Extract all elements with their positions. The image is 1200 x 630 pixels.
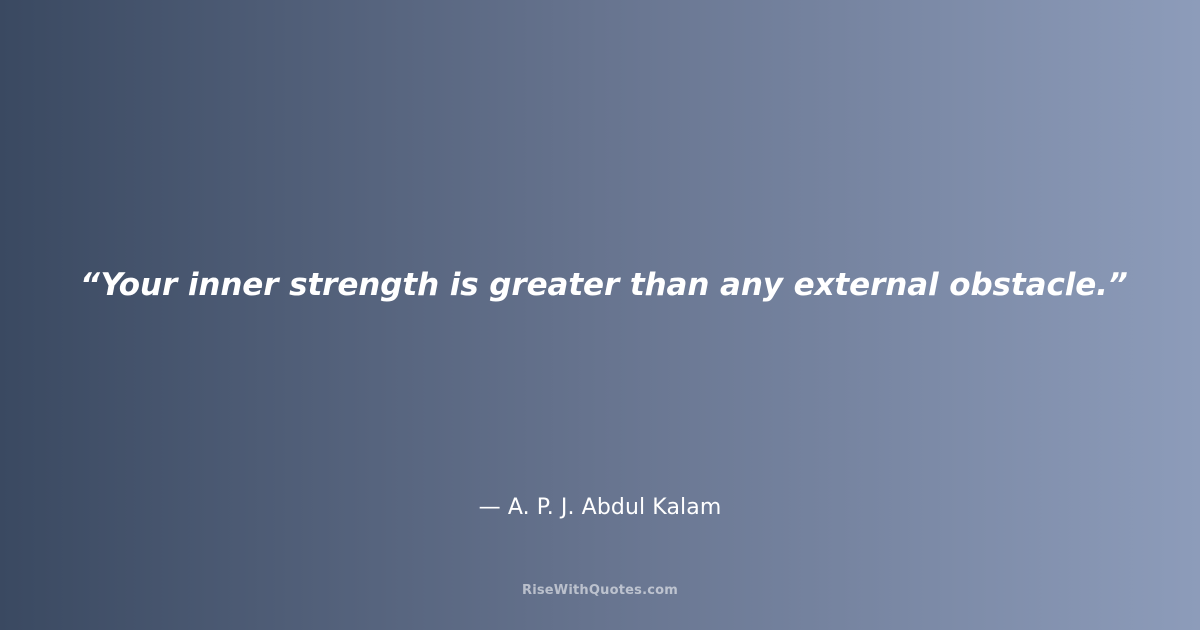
site-watermark: RiseWithQuotes.com: [0, 583, 1200, 600]
quote-card: “Your inner strength is greater than any…: [0, 0, 1200, 630]
quote-author: — A. P. J. Abdul Kalam: [0, 494, 1200, 523]
quote-text: “Your inner strength is greater than any…: [40, 265, 1160, 306]
